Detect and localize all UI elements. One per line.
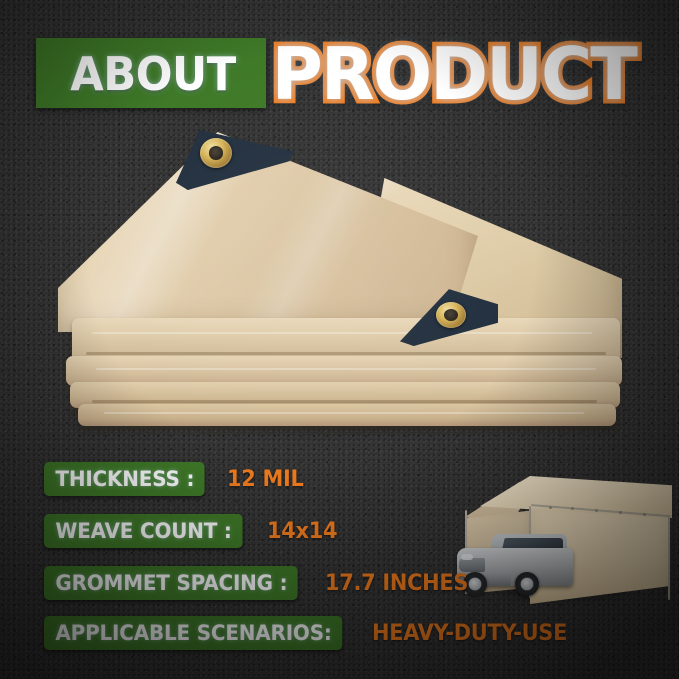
spec-label-grommet-spacing: GROMMET SPACING : xyxy=(44,566,298,600)
specification-list: THICKNESS : 12 MIL WEAVE COUNT : 14x14 G… xyxy=(0,455,679,655)
product-infographic: ABOUT PRODUCT TH xyxy=(0,0,679,679)
spec-row-weave-count: WEAVE COUNT : 14x14 xyxy=(44,513,341,549)
spec-row-grommet-spacing: GROMMET SPACING : 17.7 INCHES xyxy=(44,565,476,601)
spec-row-applicable-scenarios: APPLICABLE SCENARIOS: HEAVY-DUTY-USE xyxy=(44,615,577,651)
spec-value-applicable-scenarios: HEAVY-DUTY-USE xyxy=(372,621,567,646)
spec-label-weave-count: WEAVE COUNT : xyxy=(44,514,242,548)
tarp-product-photo xyxy=(0,100,679,460)
spec-value-thickness: 12 MIL xyxy=(227,467,304,492)
spec-value-weave-count: 14x14 xyxy=(267,519,337,544)
tarp-fold-layer-4 xyxy=(78,404,616,426)
tarp-fold-crease-3 xyxy=(96,368,596,370)
tarp-fold-crease-1 xyxy=(92,332,592,334)
tarp-fold-crease-5 xyxy=(104,412,584,414)
spec-label-applicable-scenarios: APPLICABLE SCENARIOS: xyxy=(44,616,342,650)
grommet-icon xyxy=(200,138,232,168)
header-title-about: ABOUT xyxy=(56,46,250,102)
header-title-product: PRODUCT xyxy=(272,28,636,120)
spec-row-thickness: THICKNESS : 12 MIL xyxy=(44,461,308,497)
tarp-fold-crease-4 xyxy=(92,400,597,403)
spec-value-grommet-spacing: 17.7 INCHES xyxy=(325,571,468,596)
grommet-icon xyxy=(436,302,466,328)
header: ABOUT PRODUCT xyxy=(0,26,679,118)
tarp-fold-crease-2 xyxy=(86,352,606,355)
spec-label-thickness: THICKNESS : xyxy=(44,462,205,496)
